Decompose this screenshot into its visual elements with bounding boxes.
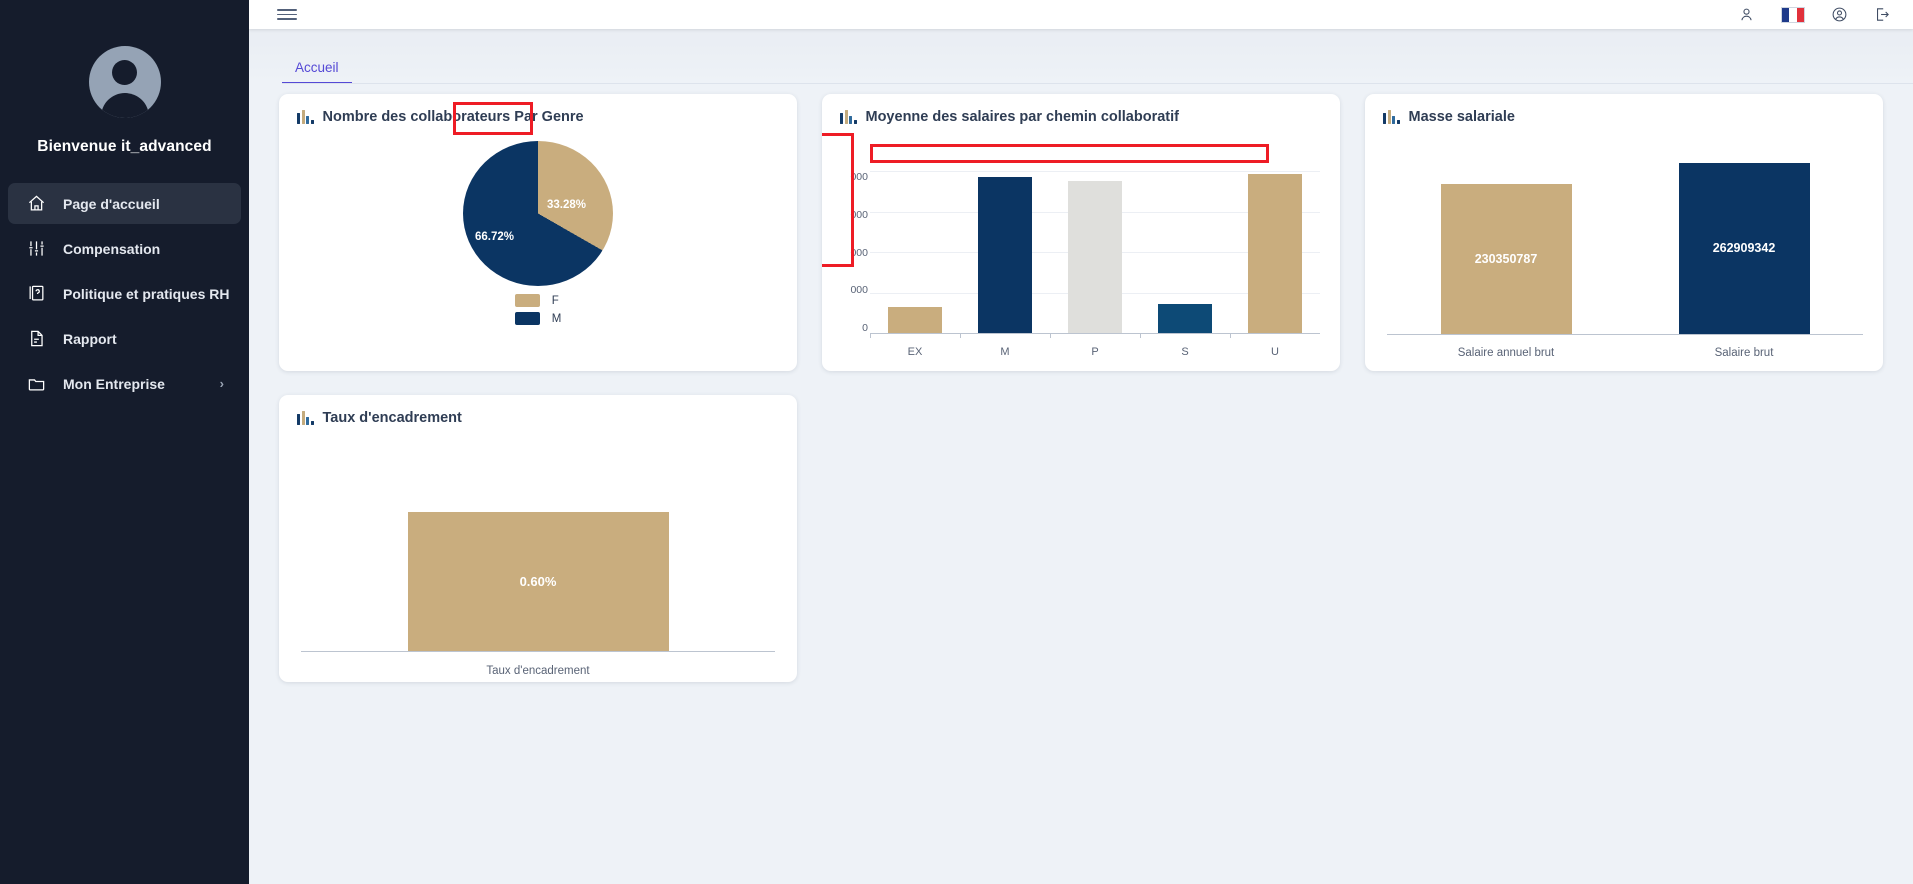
topbar	[249, 0, 1913, 29]
icon-bar	[297, 113, 300, 124]
icon-bar	[311, 421, 314, 425]
icon-bar	[306, 417, 309, 425]
bar-chart-icon	[840, 110, 857, 124]
icon-bar	[840, 113, 843, 124]
sidebar-item-label: Mon Entreprise	[63, 376, 220, 392]
bar[interactable]	[1158, 304, 1212, 333]
hamburger-line	[277, 18, 297, 20]
pie-chart-genre: 33.28% 66.72% F M	[279, 125, 797, 325]
sidebar-item-label: Politique et pratiques RH	[63, 286, 229, 302]
axis-tick	[1050, 333, 1051, 338]
icon-bar	[1397, 120, 1400, 124]
legend-label: F	[552, 295, 559, 307]
bar-value-label: 262909342	[1713, 241, 1776, 255]
y-tick-label: 000	[850, 284, 868, 296]
bar-chart-taux: 0.60% Taux d'encadrement	[301, 452, 775, 682]
flag-stripe-white	[1789, 8, 1796, 22]
plot-area	[870, 171, 1320, 334]
icon-bar	[854, 120, 857, 124]
hamburger-line	[277, 9, 297, 11]
icon-bar	[306, 116, 309, 124]
dashboard-row-2: Taux d'encadrement 0.60% Taux d'encadrem…	[279, 395, 1883, 682]
sidebar-item-mon-entreprise[interactable]: Mon Entreprise ›	[8, 363, 241, 404]
logout-icon[interactable]	[1874, 6, 1891, 23]
bar-value-label: 230350787	[1475, 252, 1538, 266]
x-tick-label: Salaire annuel brut	[1387, 347, 1625, 359]
dashboard-row-1: Nombre des collaborateurs Par Genre 33.2…	[279, 94, 1883, 371]
grid-spacer	[822, 395, 1340, 682]
x-tick-label: Taux d'encadrement	[301, 665, 775, 677]
axis-tick	[870, 333, 871, 338]
pie-slice-label-f: 33.28%	[547, 199, 586, 211]
bar[interactable]	[978, 177, 1032, 333]
card-taux-dencadrement: Taux d'encadrement 0.60% Taux d'encadrem…	[279, 395, 797, 682]
icon-bar	[1388, 110, 1391, 124]
icon-bar	[302, 411, 305, 425]
pie-slice-label-m: 66.72%	[475, 231, 514, 243]
card-moyenne-des-salaires-par-chemin-collaboratif: Moyenne des salaires par chemin collabor…	[822, 94, 1340, 371]
hamburger-line	[277, 14, 297, 16]
bar-chart-chemin: 000 000 000 000 0	[822, 147, 1328, 362]
icon-bar	[1392, 116, 1395, 124]
icon-bar	[845, 110, 848, 124]
chevron-right-icon: ›	[220, 376, 224, 391]
dashboard-content: Nombre des collaborateurs Par Genre 33.2…	[249, 84, 1913, 884]
flag-stripe-blue	[1782, 8, 1789, 22]
sidebar-item-compensation[interactable]: Compensation	[8, 228, 241, 269]
main-area: Accueil Nombre des collaborateurs	[249, 0, 1913, 884]
bar-column	[870, 171, 960, 333]
bar-column	[1140, 171, 1230, 333]
pie-legend: F M	[515, 294, 562, 325]
bar-column	[1050, 171, 1140, 333]
file-lines-icon	[25, 328, 47, 350]
application-root: Bienvenue it_advanced Page d'accueil Com…	[0, 0, 1913, 884]
tab-label: Accueil	[295, 60, 339, 75]
icon-bar	[297, 414, 300, 425]
user-outline-icon[interactable]	[1738, 6, 1755, 23]
y-axis-labels: 000 000 000 000 0	[832, 171, 868, 334]
y-tick-label: 000	[850, 171, 868, 183]
card-title: Moyenne des salaires par chemin collabor…	[866, 109, 1179, 125]
topbar-icons	[1738, 6, 1897, 23]
bar-chart-masse: 230350787262909342 Salaire annuel brut S…	[1387, 145, 1863, 363]
bar[interactable]	[1248, 174, 1302, 333]
bar[interactable]	[888, 307, 942, 333]
bar-chart-icon	[1383, 110, 1400, 124]
x-tick-label: EX	[870, 346, 960, 358]
sidebar-nav: Page d'accueil Compensation Politique et…	[0, 183, 249, 408]
sidebar-item-politique-et-pratiques-rh[interactable]: Politique et pratiques RH	[8, 273, 241, 314]
hamburger-menu-icon[interactable]	[277, 9, 297, 20]
avatar-body	[101, 93, 149, 118]
axis-tick	[1230, 333, 1231, 338]
x-tick-label: P	[1050, 346, 1140, 358]
icon-bar	[849, 116, 852, 124]
flag-stripe-red	[1797, 8, 1804, 22]
plot-area: 0.60%	[301, 452, 775, 652]
axis-tick	[1140, 333, 1141, 338]
bar[interactable]: 0.60%	[408, 512, 669, 651]
pie-graphic[interactable]: 33.28% 66.72%	[463, 141, 613, 286]
sliders-icon	[25, 238, 47, 260]
welcome-message: Bienvenue it_advanced	[37, 138, 211, 156]
card-title: Nombre des collaborateurs Par Genre	[323, 109, 584, 125]
sidebar: Bienvenue it_advanced Page d'accueil Com…	[0, 0, 249, 884]
home-icon	[25, 193, 47, 215]
legend-swatch	[515, 312, 540, 325]
x-axis-labels: EX M P S U	[870, 346, 1320, 358]
sidebar-item-label: Compensation	[63, 241, 224, 257]
legend-item-f[interactable]: F	[515, 294, 559, 307]
sidebar-item-label: Rapport	[63, 331, 224, 347]
y-tick-label: 000	[850, 247, 868, 259]
card-header: Taux d'encadrement	[279, 395, 797, 426]
x-tick-label: Salaire brut	[1625, 347, 1863, 359]
x-tick-label: U	[1230, 346, 1320, 358]
x-axis-labels: Salaire annuel brut Salaire brut	[1387, 347, 1863, 359]
avatar-head	[112, 60, 137, 85]
bar-column	[1230, 171, 1320, 333]
sidebar-item-rapport[interactable]: Rapport	[8, 318, 241, 359]
plot-area: 230350787262909342	[1387, 145, 1863, 335]
bar[interactable]	[1068, 181, 1122, 333]
x-tick-label: S	[1140, 346, 1230, 358]
sidebar-item-page-daccueil[interactable]: Page d'accueil	[8, 183, 241, 224]
card-header: Moyenne des salaires par chemin collabor…	[822, 94, 1340, 125]
bar-column: 262909342	[1625, 145, 1863, 334]
documents-question-icon	[25, 283, 47, 305]
legend-label: M	[552, 313, 562, 325]
avatar	[89, 46, 161, 118]
card-header: Nombre des collaborateurs Par Genre	[279, 94, 797, 125]
x-tick-label: M	[960, 346, 1050, 358]
sidebar-item-label: Page d'accueil	[63, 196, 224, 212]
bar-value-label: 0.60%	[520, 574, 557, 589]
legend-swatch	[515, 294, 540, 307]
card-masse-salariale: Masse salariale 230350787262909342 Salai…	[1365, 94, 1883, 371]
bar-column: 230350787	[1387, 145, 1625, 334]
bar[interactable]: 230350787	[1441, 184, 1572, 334]
icon-bar	[311, 120, 314, 124]
bar-track	[870, 171, 1320, 333]
y-tick-label: 000	[850, 209, 868, 221]
bar-chart-icon	[297, 411, 314, 425]
axis-tick	[960, 333, 961, 338]
french-flag-icon[interactable]	[1781, 7, 1805, 23]
legend-item-m[interactable]: M	[515, 312, 562, 325]
bar-column	[960, 171, 1050, 333]
card-header: Masse salariale	[1365, 94, 1883, 125]
bar-chart-icon	[297, 110, 314, 124]
icon-bar	[1383, 113, 1386, 124]
y-tick-label: 0	[862, 322, 868, 334]
card-title: Taux d'encadrement	[323, 410, 462, 426]
account-circle-icon[interactable]	[1831, 6, 1848, 23]
tab-strip: Accueil	[249, 29, 1913, 84]
bar[interactable]: 262909342	[1679, 163, 1810, 334]
folder-icon	[25, 373, 47, 395]
grid-spacer	[1365, 395, 1883, 682]
icon-bar	[302, 110, 305, 124]
card-nombre-des-collaborateurs-par-genre: Nombre des collaborateurs Par Genre 33.2…	[279, 94, 797, 371]
card-title: Masse salariale	[1409, 109, 1515, 125]
tab-accueil[interactable]: Accueil	[282, 60, 352, 84]
